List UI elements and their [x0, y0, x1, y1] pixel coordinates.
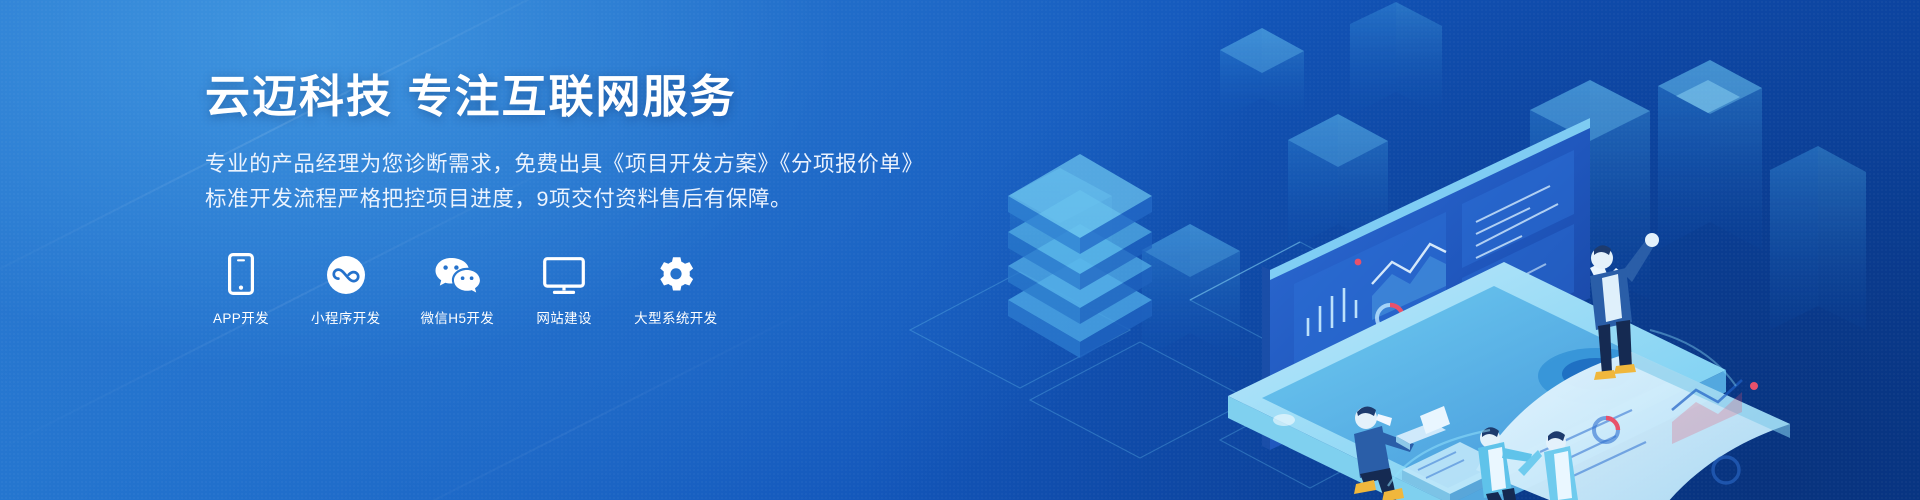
service-label-miniprogram: 小程序开发 [311, 307, 381, 327]
service-label-wechat: 微信H5开发 [421, 307, 495, 327]
hero-banner: 云迈科技 专注互联网服务 专业的产品经理为您诊断需求，免费出具《项目开发方案》《… [0, 0, 1920, 500]
gear-icon [655, 253, 697, 295]
subtitle-line-1: 专业的产品经理为您诊断需求，免费出具《项目开发方案》《分项报价单》 [205, 147, 924, 182]
isometric-data-platform-illustration [890, 0, 1920, 500]
service-list: APP开发 小程序开发 [205, 253, 924, 327]
service-item-app[interactable]: APP开发 [211, 253, 271, 327]
service-label-app: APP开发 [213, 307, 269, 327]
mobile-phone-icon [228, 253, 254, 295]
service-label-website: 网站建设 [536, 307, 592, 327]
subtitle-line-2: 标准开发流程严格把控项目进度，9项交付资料售后有保障。 [205, 182, 924, 217]
page-title: 云迈科技 专注互联网服务 [205, 70, 924, 123]
service-item-wechat[interactable]: 微信H5开发 [421, 253, 495, 327]
hero-content: 云迈科技 专注互联网服务 专业的产品经理为您诊断需求，免费出具《项目开发方案》《… [205, 70, 924, 327]
wechat-icon [434, 253, 480, 295]
mini-program-icon [326, 253, 366, 295]
monitor-icon [543, 253, 585, 295]
server-stack [1008, 154, 1152, 358]
service-item-website[interactable]: 网站建设 [534, 253, 594, 327]
service-label-system: 大型系统开发 [634, 307, 717, 327]
service-item-miniprogram[interactable]: 小程序开发 [311, 253, 381, 327]
service-item-system[interactable]: 大型系统开发 [634, 253, 717, 327]
